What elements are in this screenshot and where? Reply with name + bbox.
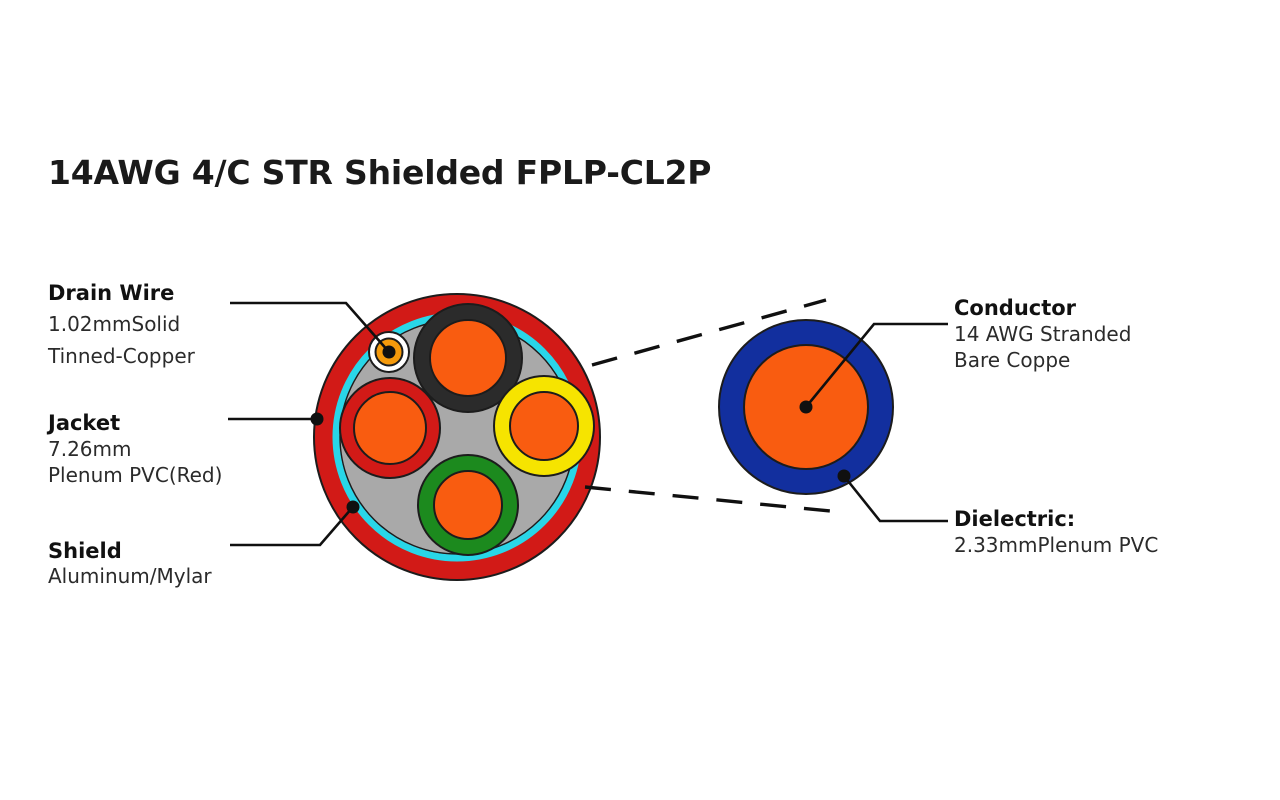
shield-label-line1: Aluminum/Mylar [48,564,212,588]
conductor-label-line2: Bare Coppe [954,348,1070,372]
drain-wire-label-line2: Tinned-Copper [47,344,196,368]
conductor-label-head: Conductor [954,296,1077,320]
drain-wire-leader-dot [383,346,396,359]
page-title: 14AWG 4/C STR Shielded FPLP-CL2P [48,153,711,192]
conductor-label-line1: 14 AWG Stranded [954,322,1131,346]
green-conductor-core [434,471,502,539]
shield-leader-dot [347,501,360,514]
drain-wire-label-line1: 1.02mmSolid [48,312,180,336]
dielectric-leader-dot [838,470,851,483]
conductor-red [340,378,440,478]
jacket-label-line2: Plenum PVC(Red) [48,463,222,487]
page-background [0,0,1280,800]
label-drain-wire: Drain Wire 1.02mmSolid Tinned-Copper [47,281,196,368]
dielectric-label-head: Dielectric: [954,507,1075,531]
conductor-leader-dot [800,401,813,414]
drain-wire-label-head: Drain Wire [48,281,174,305]
main-cable-cross-section [314,294,600,580]
jacket-leader-dot [311,413,324,426]
dielectric-label-line1: 2.33mmPlenum PVC [954,533,1158,557]
jacket-label-line1: 7.26mm [48,437,132,461]
jacket-label-head: Jacket [46,411,120,435]
conductor-yellow [494,376,594,476]
black-conductor-core [430,320,506,396]
cable-cross-section-diagram: 14AWG 4/C STR Shielded FPLP-CL2P [0,0,1280,800]
red-conductor-core [354,392,426,464]
shield-label-head: Shield [48,539,122,563]
conductor-green [418,455,518,555]
yellow-conductor-core [510,392,578,460]
